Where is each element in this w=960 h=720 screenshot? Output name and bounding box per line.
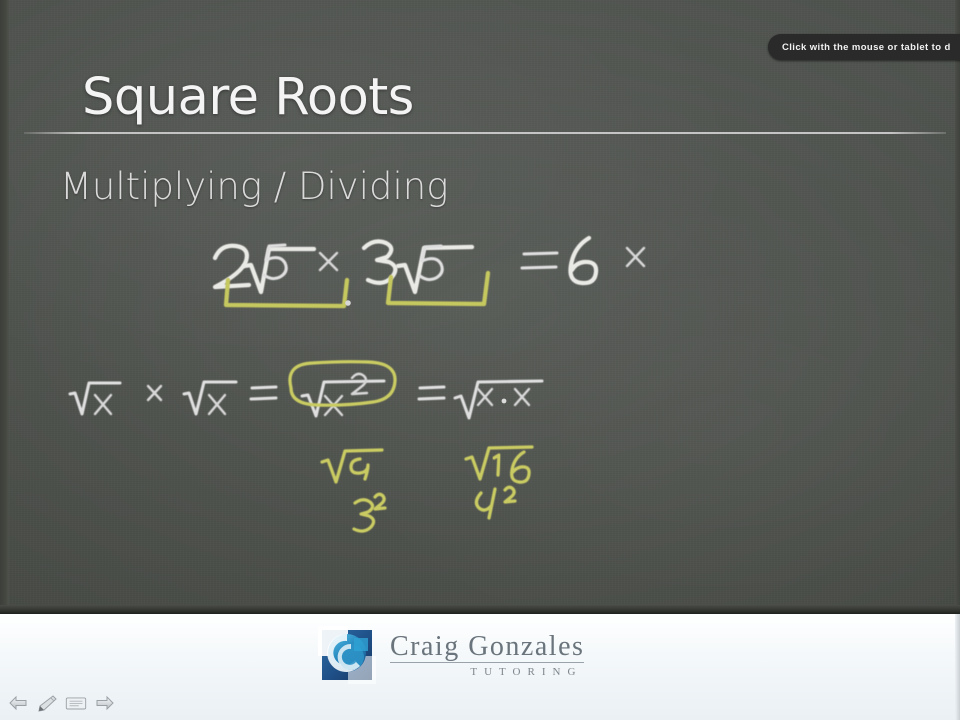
instruction-tooltip-label: Click with the mouse or tablet to d xyxy=(768,42,951,53)
player-toolbar xyxy=(6,692,117,714)
presentation-screen: Click with the mouse or tablet to d Squa… xyxy=(0,0,960,720)
notes-icon[interactable] xyxy=(64,692,88,714)
equation-line-1 xyxy=(215,238,644,306)
brand-logo: Craig Gonzales TUTORING xyxy=(318,626,584,684)
brand-name: Craig Gonzales xyxy=(390,632,584,663)
pen-icon[interactable] xyxy=(35,692,59,714)
cg-monogram-icon xyxy=(318,626,376,684)
brand-tagline: TUTORING xyxy=(470,666,584,678)
equation-line-3 xyxy=(322,447,532,531)
forward-arrow-icon[interactable] xyxy=(93,692,117,714)
instruction-tooltip: Click with the mouse or tablet to d xyxy=(768,34,960,60)
brand-logo-text: Craig Gonzales TUTORING xyxy=(390,632,584,678)
handwriting-layer: .chalk { fill:none; stroke:#e9e9e6; stro… xyxy=(0,0,960,613)
footer-right-frame xyxy=(955,613,960,720)
equation-line-2 xyxy=(70,362,542,418)
back-arrow-icon[interactable] xyxy=(6,692,30,714)
